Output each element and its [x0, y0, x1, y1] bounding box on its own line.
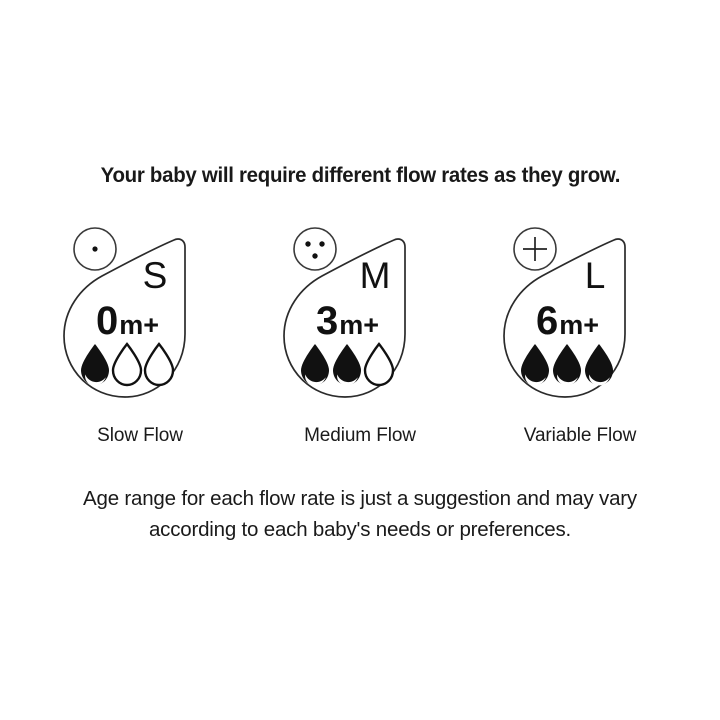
droplet-meter-variable [521, 344, 613, 385]
footnote: Age range for each flow rate is just a s… [30, 483, 690, 545]
footnote-line-1: Age range for each flow rate is just a s… [30, 483, 690, 514]
age-suffix-slow: m+ [119, 310, 159, 340]
hole-pattern-one-dot-icon [74, 228, 116, 270]
flow-option-variable: L 6m+ [485, 226, 675, 447]
age-suffix-variable: m+ [559, 310, 599, 340]
age-suffix-medium: m+ [339, 310, 379, 340]
flow-label-medium: Medium Flow [304, 425, 416, 447]
nipple-illustration-variable: L 6m+ [490, 226, 670, 411]
flow-label-slow: Slow Flow [97, 425, 183, 447]
droplet-meter-slow [81, 344, 173, 385]
age-number-slow: 0 [96, 299, 118, 343]
flow-option-slow: S 0m+ [45, 226, 235, 447]
age-number-medium: 3 [316, 299, 338, 343]
age-number-variable: 6 [536, 299, 558, 343]
flow-option-medium: M 3m+ [265, 226, 455, 447]
size-letter-variable: L [585, 255, 606, 296]
flow-options-row: S 0m+ [0, 226, 720, 447]
droplet-meter-medium [301, 344, 393, 385]
flow-label-variable: Variable Flow [524, 425, 636, 447]
size-letter-slow: S [143, 255, 168, 296]
size-letter-medium: M [360, 255, 391, 296]
hole-pattern-plus-icon [514, 228, 556, 270]
nipple-illustration-slow: S 0m+ [50, 226, 230, 411]
flow-rate-infographic: Your baby will require different flow ra… [0, 0, 720, 720]
hole-pattern-three-dots-icon [294, 228, 336, 270]
nipple-illustration-medium: M 3m+ [270, 226, 450, 411]
footnote-line-2: according to each baby's needs or prefer… [30, 514, 690, 545]
page-title: Your baby will require different flow ra… [100, 163, 619, 188]
